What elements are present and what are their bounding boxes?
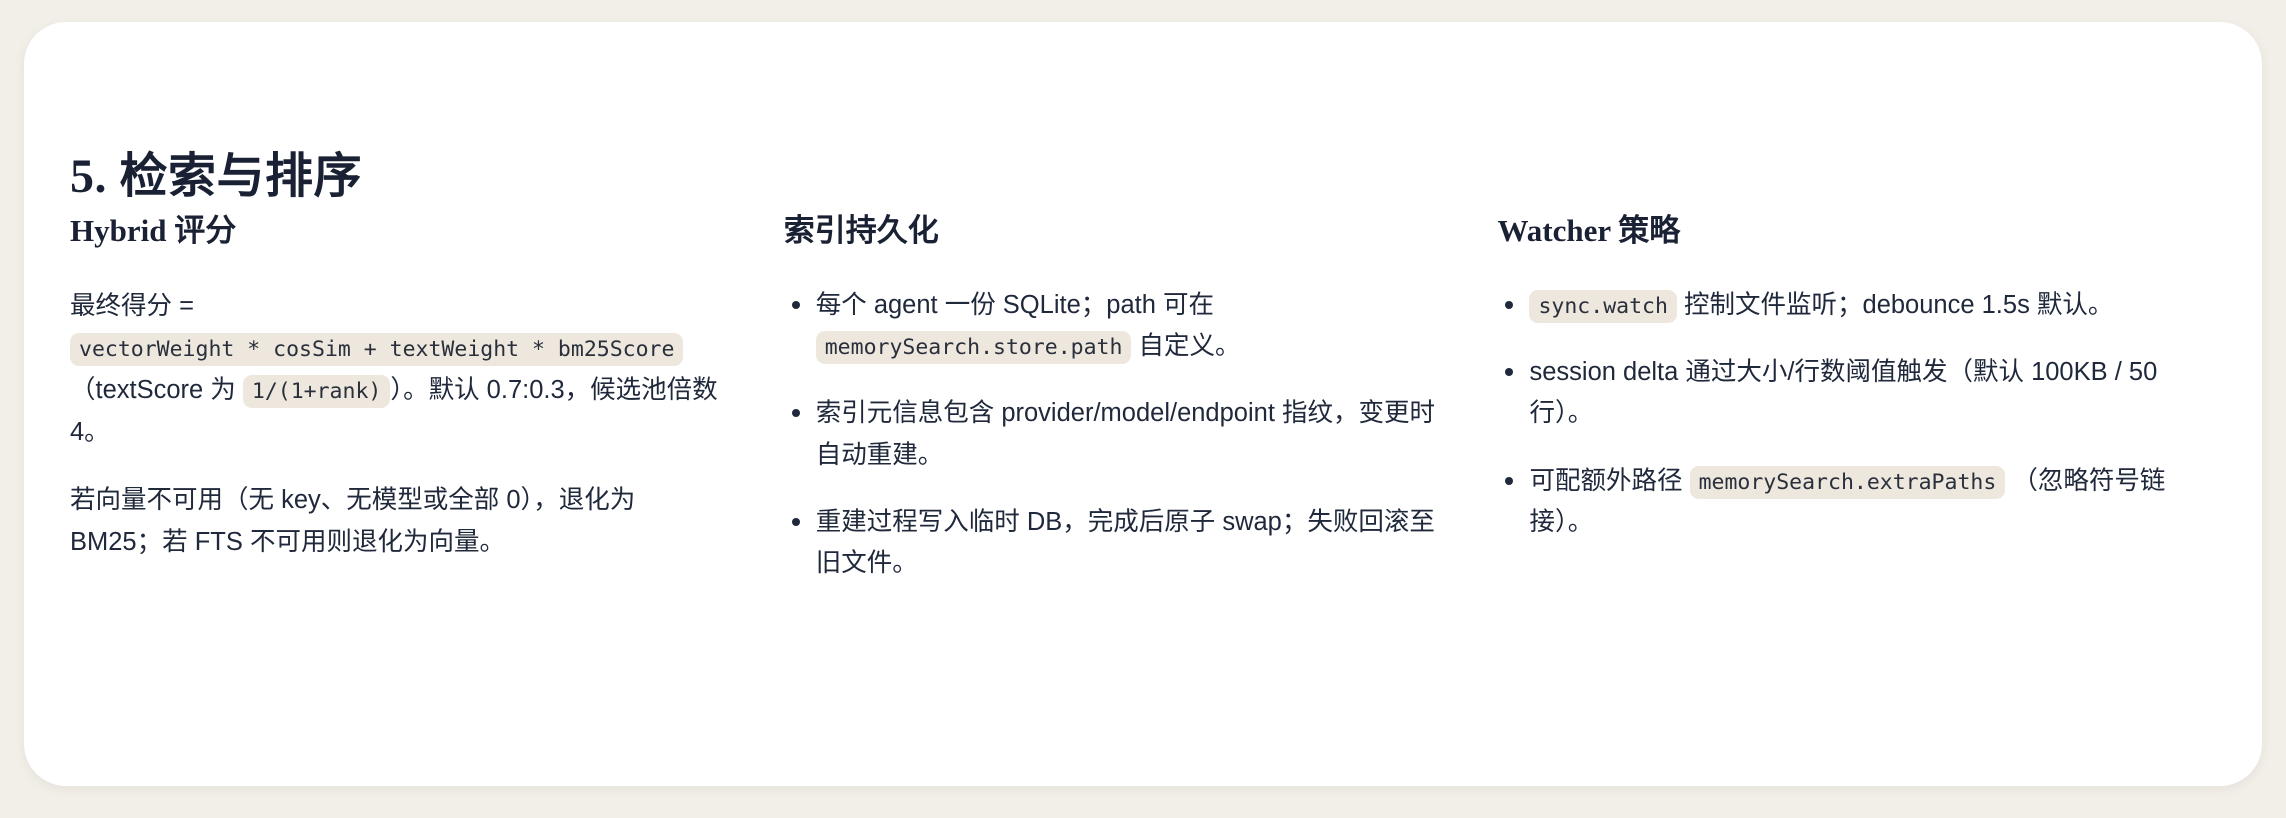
content-column: Watcher 策略sync.watch 控制文件监听；debounce 1.5…	[1497, 212, 2220, 543]
list-item: session delta 通过大小/行数阈值触发（默认 100KB / 50 …	[1497, 352, 2200, 435]
bullet-dot-icon	[1505, 368, 1513, 376]
inline-code-chip: vectorWeight * cosSim + textWeight * bm2…	[70, 333, 683, 366]
paragraph: 最终得分 = vectorWeight * cosSim + textWeigh…	[70, 285, 724, 453]
bullet-dot-icon	[1505, 301, 1513, 309]
text-segment: session delta 通过大小/行数阈值触发（默认 100KB / 50 …	[1529, 358, 2157, 427]
inline-code-chip: memorySearch.extraPaths	[1690, 466, 2006, 499]
content-columns: Hybrid 评分最终得分 = vectorWeight * cosSim + …	[70, 212, 2220, 585]
slide-card: 5. 检索与排序 Hybrid 评分最终得分 = vectorWeight * …	[24, 22, 2262, 786]
bullet-list: 每个 agent 一份 SQLite；path 可在 memorySearch.…	[784, 285, 1438, 585]
content-column: 索引持久化每个 agent 一份 SQLite；path 可在 memorySe…	[784, 212, 1498, 585]
column-heading: Hybrid 评分	[70, 212, 724, 251]
column-heading: Watcher 策略	[1497, 212, 2200, 251]
list-item: sync.watch 控制文件监听；debounce 1.5s 默认。	[1497, 285, 2200, 326]
bullet-list: sync.watch 控制文件监听；debounce 1.5s 默认。sessi…	[1497, 285, 2200, 543]
text-segment: 每个 agent 一份 SQLite；path 可在	[816, 291, 1214, 319]
list-item: 每个 agent 一份 SQLite；path 可在 memorySearch.…	[784, 285, 1438, 368]
paragraph: 若向量不可用（无 key、无模型或全部 0），退化为 BM25；若 FTS 不可…	[70, 479, 724, 563]
text-segment: 索引元信息包含 provider/model/endpoint 指纹，变更时自动…	[816, 399, 1435, 468]
content-column: Hybrid 评分最终得分 = vectorWeight * cosSim + …	[70, 212, 784, 563]
text-segment: （textScore 为	[70, 376, 243, 404]
text-segment: 若向量不可用（无 key、无模型或全部 0），退化为 BM25；若 FTS 不可…	[70, 486, 635, 556]
bullet-dot-icon	[792, 409, 800, 417]
inline-code-chip: memorySearch.store.path	[816, 331, 1132, 364]
text-segment: 自定义。	[1131, 332, 1240, 360]
text-segment: 可配额外路径	[1529, 467, 1689, 495]
bullet-dot-icon	[792, 301, 800, 309]
bullet-dot-icon	[1505, 477, 1513, 485]
text-segment: 控制文件监听；debounce 1.5s 默认。	[1677, 291, 2113, 319]
bullet-dot-icon	[792, 518, 800, 526]
list-item: 索引元信息包含 provider/model/endpoint 指纹，变更时自动…	[784, 393, 1438, 476]
inline-code-chip: 1/(1+rank)	[243, 375, 390, 408]
text-segment: 最终得分 =	[70, 292, 194, 320]
page-title: 5. 检索与排序	[70, 136, 362, 206]
list-item: 可配额外路径 memorySearch.extraPaths （忽略符号链接）。	[1497, 461, 2200, 544]
column-heading: 索引持久化	[784, 212, 1438, 251]
inline-code-chip: sync.watch	[1529, 290, 1676, 323]
text-segment: 重建过程写入临时 DB，完成后原子 swap；失败回滚至旧文件。	[816, 508, 1435, 577]
list-item: 重建过程写入临时 DB，完成后原子 swap；失败回滚至旧文件。	[784, 502, 1438, 585]
